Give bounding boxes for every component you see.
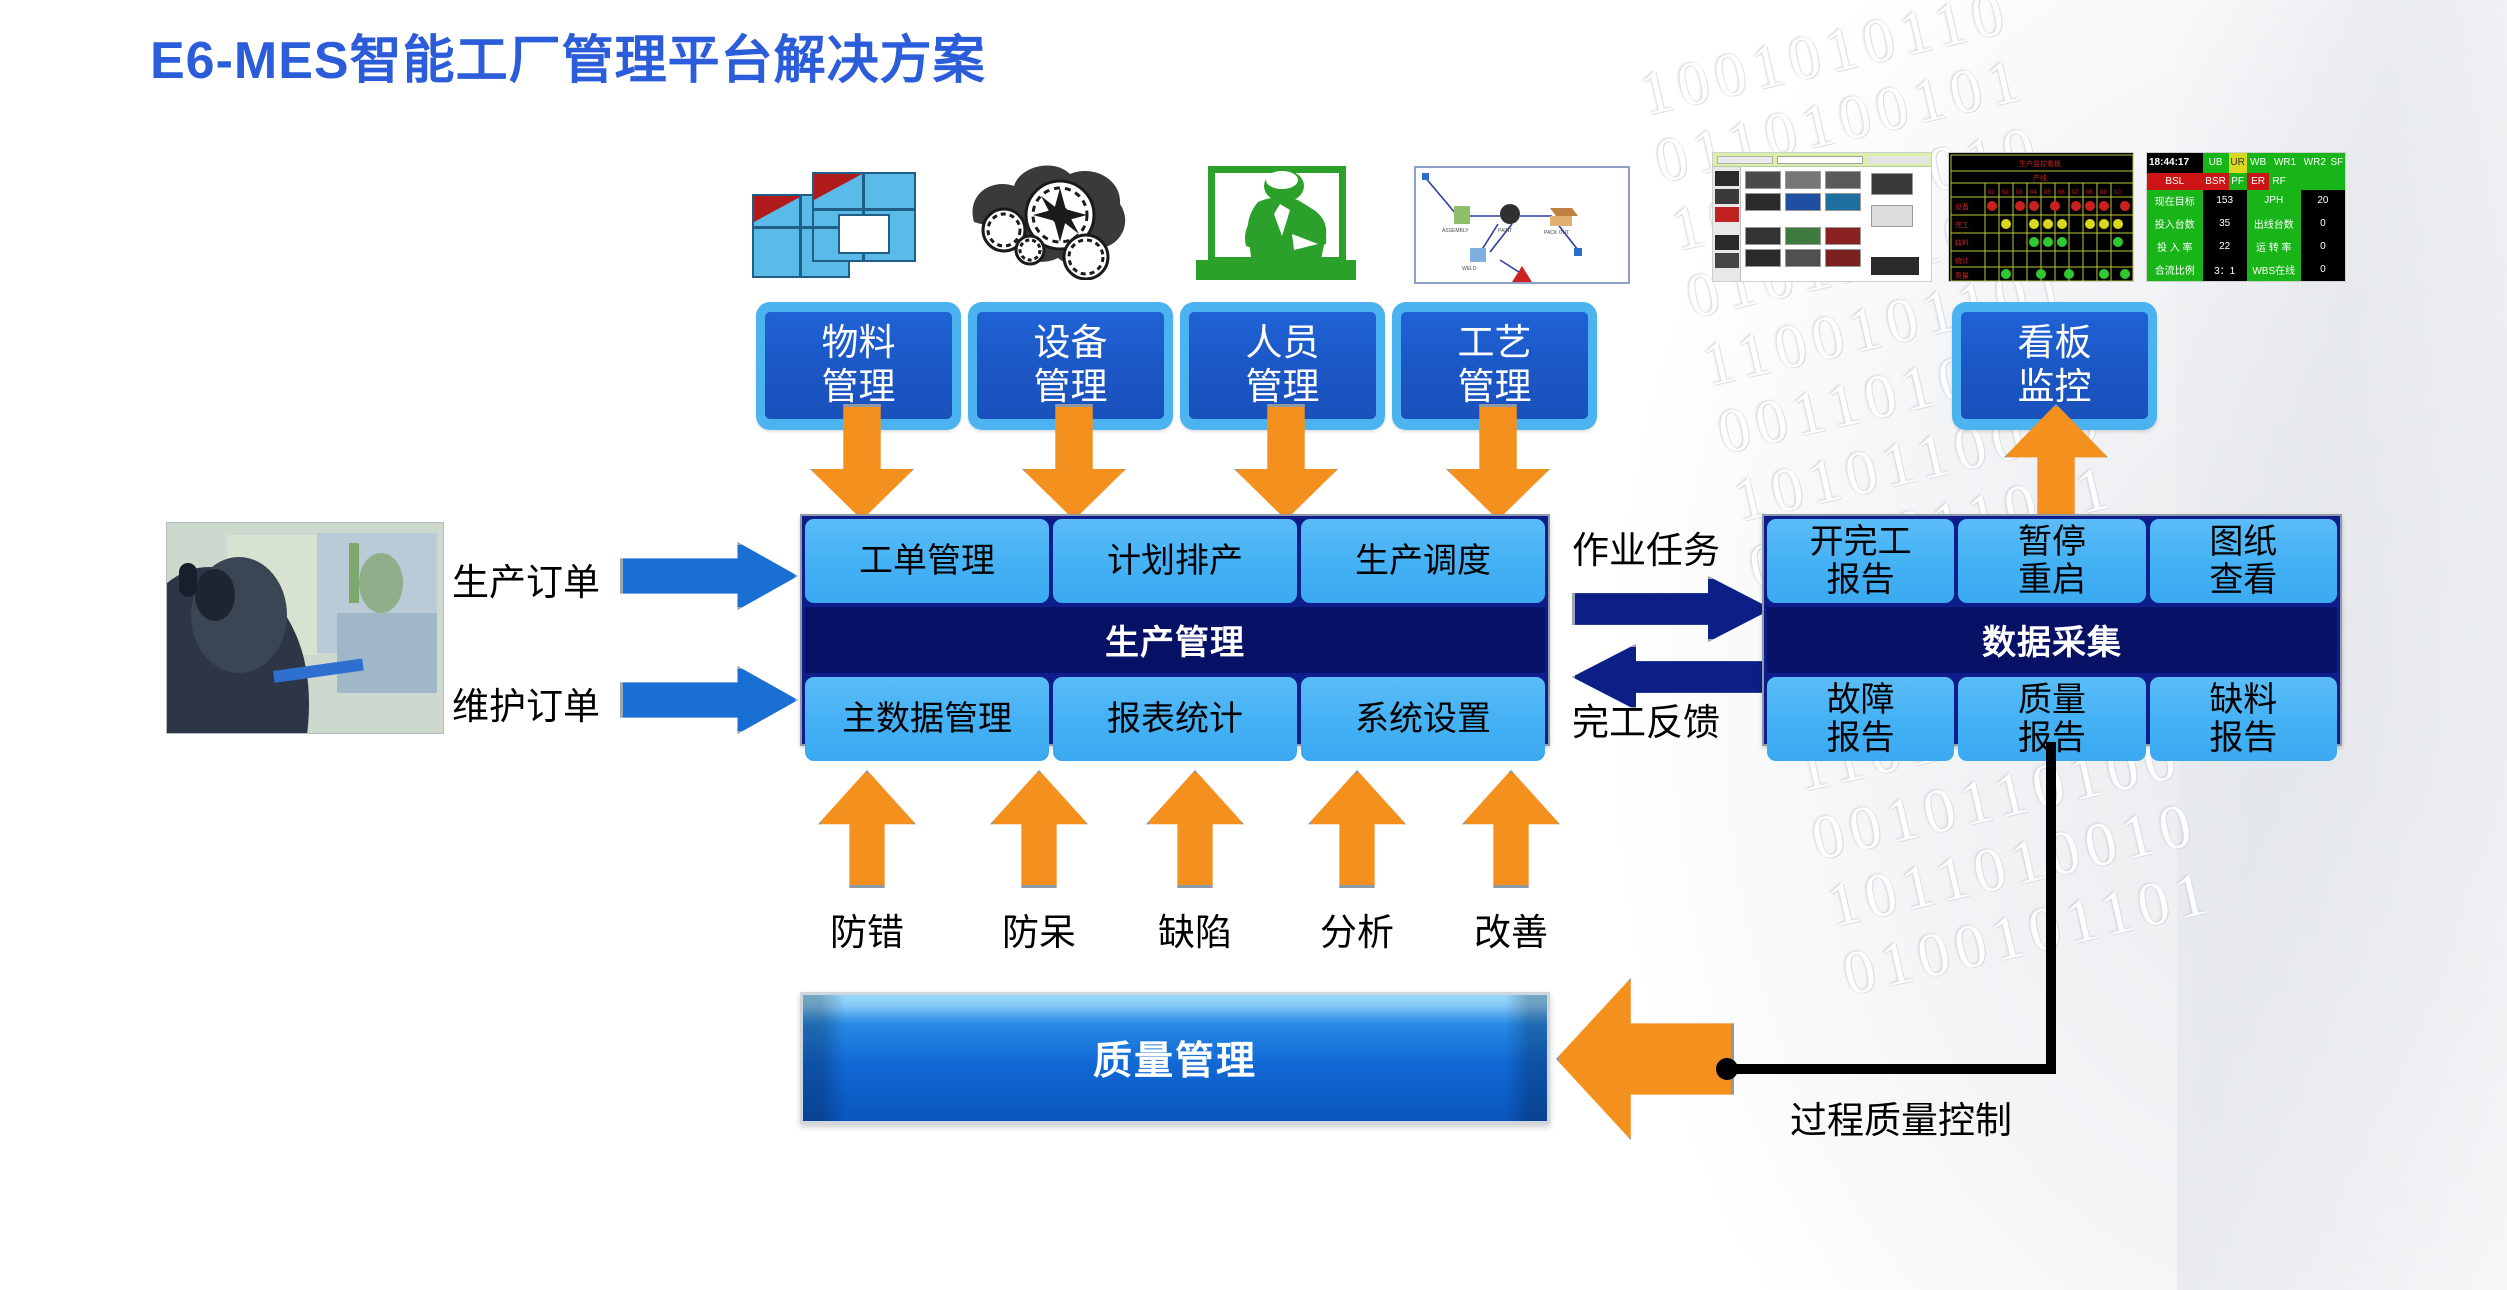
cell-line1: 质量 [2018,681,2086,719]
cell-shortage-report[interactable]: 缺料 报告 [2150,677,2337,761]
kanban-row-label2-2: 运 转 率 [2247,235,2301,258]
label-defect: 缺陷 [1146,902,1244,956]
svg-text:10: 10 [2114,190,2121,196]
kanban-row-label2-3: WBS在线 [2247,258,2301,281]
arrow-up-improvement [1462,770,1560,888]
svg-text:PACK OUT: PACK OUT [1544,230,1569,236]
svg-text:02: 02 [2002,190,2009,196]
module-card-process-text: 工艺 管理 [1401,312,1588,419]
arrow-up-foolproofing [990,770,1088,888]
cell-line2: 查看 [2209,561,2277,599]
kanban-row-label-2: 投 入 率 [2147,235,2203,258]
svg-text:产线: 产线 [2033,173,2047,182]
arrow-process-quality-control [1556,978,1734,1140]
process-flow-icon: ASSEMBLY PAINT PACK OUT WELD COMP [1414,166,1630,284]
page-title: E6-MES智能工厂管理平台解决方案 [150,18,986,93]
connector-dot [1716,1058,1738,1080]
kanban-row-value2-3: 0 [2301,258,2345,281]
arrow-up-mistake-proofing [818,770,916,888]
connector-vertical [2046,742,2056,1074]
quality-management-label: 质量管理 [1093,1030,1257,1086]
cell-pause-restart[interactable]: 暂停 重启 [1958,519,2145,603]
cell-production-dispatch[interactable]: 生产调度 [1301,519,1545,603]
label-production-order: 生产订单 [452,552,600,606]
svg-text:质量: 质量 [1955,271,1969,280]
module-card-kanban-text: 看板 监控 [1961,312,2148,419]
kanban-row-value2-0: 20 [2301,190,2345,213]
module-label-line2: 监控 [1967,365,2142,409]
module-label-line1: 人员 [1195,321,1370,365]
module-label-line2: 管理 [983,365,1158,409]
kanban-status-wr2: WR2 [2301,153,2329,173]
kanban-clock: 18:44:17 [2147,153,2203,173]
operator-photo-svg [167,523,444,734]
cell-master-data[interactable]: 主数据管理 [805,677,1049,761]
cell-line1: 故障 [1827,681,1895,719]
kanban-status-ur: UR [2229,153,2247,173]
svg-text:缺料: 缺料 [1955,238,1969,247]
svg-text:ASSEMBLY: ASSEMBLY [1442,228,1469,234]
label-improvement: 改善 [1462,902,1560,956]
cell-drawing-view[interactable]: 图纸 查看 [2150,519,2337,603]
label-process-quality-control: 过程质量控制 [1790,1090,2012,1144]
cell-plan-schedule[interactable]: 计划排产 [1053,519,1297,603]
kanban-row-label-1: 投入台数 [2147,212,2203,235]
module-label-line1: 工艺 [1407,321,1582,365]
svg-text:03: 03 [2016,190,2023,196]
data-collection-panel[interactable]: 开完工 报告 暂停 重启 图纸 查看 数据采集 故障 [1762,514,2342,746]
cell-report-statistics[interactable]: 报表统计 [1053,677,1297,761]
worker-svg [1196,160,1356,270]
kanban-row-label2-0: JPH [2247,190,2301,213]
quality-management-bar[interactable]: 质量管理 [800,992,1550,1124]
production-management-panel[interactable]: 工单管理 计划排产 生产调度 生产管理 主数据管理 报表统计 系统设置 [800,514,1550,746]
module-label-line2: 管理 [1195,365,1370,409]
module-label-line2: 管理 [1407,365,1582,409]
kanban-row-value-2: 22 [2203,235,2247,258]
kanban-row-label-0: 现在目标 [2147,190,2203,213]
cell-line1: 开完工 [1810,523,1912,561]
cell-line2: 报告 [1827,719,1895,757]
label-analysis: 分析 [1308,902,1406,956]
svg-text:08: 08 [2086,190,2093,196]
label-completion-feedback: 完工反馈 [1572,692,1720,746]
module-card-material-text: 物料 管理 [765,312,952,419]
kanban-row-value2-1: 0 [2301,212,2345,235]
cell-system-settings[interactable]: 系统设置 [1301,677,1545,761]
module-label-line2: 管理 [771,365,946,409]
svg-text:09: 09 [2100,190,2107,196]
operator-photo [166,522,444,734]
svg-text:设备: 设备 [1955,202,1969,211]
andon-matrix-icon: 设备完工 缺料统计质量 生产监控看板产线 010203 040506 07080… [1948,152,2134,282]
svg-text:07: 07 [2072,190,2079,196]
arrow-maintenance-order [620,666,798,734]
arrow-work-task [1572,576,1772,642]
connector-horizontal [1724,1064,2054,1074]
gears-svg [960,160,1142,280]
data-panel-band: 数据采集 [1767,607,2337,673]
svg-text:06: 06 [2058,190,2065,196]
svg-text:生产监控看板: 生产监控看板 [2019,159,2061,168]
cell-line2: 报告 [1810,561,1912,599]
svg-text:WELD: WELD [1462,266,1477,272]
cell-line1: 图纸 [2209,523,2277,561]
cell-line1: 暂停 [2018,523,2086,561]
kanban-screen-icon: 18:44:17 UB UR WB WR1 WR2 SF BSL BSR PF … [2146,152,2346,282]
packages-icon [752,168,922,280]
svg-text:01: 01 [1988,190,1995,196]
cell-line2: 重启 [2018,561,2086,599]
kanban-status-sf: SF [2329,153,2345,173]
cell-start-finish-report[interactable]: 开完工 报告 [1767,519,1954,603]
kanban-status-bsl: BSL [2147,173,2203,190]
worker-icon [1196,160,1356,282]
label-work-task: 作业任务 [1572,520,1720,574]
svg-text:统计: 统计 [1955,256,1969,265]
arrow-up-analysis [1308,770,1406,888]
process-flow-svg: ASSEMBLY PAINT PACK OUT WELD COMP [1416,168,1630,284]
module-card-equipment-text: 设备 管理 [977,312,1164,419]
module-label-line1: 设备 [983,321,1158,365]
kanban-row-value-3: 3：1 [2203,258,2247,281]
gears-icon [960,160,1142,280]
arrow-up-defect [1146,770,1244,888]
cell-work-order[interactable]: 工单管理 [805,519,1049,603]
production-top-row: 工单管理 计划排产 生产调度 [805,519,1545,603]
kanban-status-ub: UB [2203,153,2229,173]
production-bottom-row: 主数据管理 报表统计 系统设置 [805,677,1545,761]
kanban-status-wb: WB [2247,153,2270,173]
cell-line1: 缺料 [2209,681,2277,719]
label-maintenance-order: 维护订单 [452,676,600,730]
kanban-status-pf: PF [2229,173,2247,190]
kanban-row-label-3: 合流比例 [2147,258,2203,281]
kanban-row-label2-1: 出线台数 [2247,212,2301,235]
label-mistake-proofing: 防错 [818,902,916,956]
kanban-row-value-1: 35 [2203,212,2247,235]
cell-fault-report[interactable]: 故障 报告 [1767,677,1954,761]
kanban-row-value-0: 153 [2203,190,2247,213]
arrow-production-order [620,542,798,610]
kanban-status-rf: RF [2269,173,2345,190]
kanban-status-er: ER [2247,173,2270,190]
cell-line2: 报告 [2209,719,2277,757]
data-top-row: 开完工 报告 暂停 重启 图纸 查看 [1767,519,2337,603]
dashboard-gallery-icon [1712,152,1932,282]
svg-text:05: 05 [2044,190,2051,196]
module-label-line1: 物料 [771,321,946,365]
kanban-status-bsr: BSR [2203,173,2229,190]
svg-text:完工: 完工 [1955,220,1969,229]
svg-text:PAINT: PAINT [1498,228,1512,234]
label-foolproofing: 防呆 [990,902,1088,956]
kanban-row-value2-2: 0 [2301,235,2345,258]
kanban-status-wr1: WR1 [2269,153,2300,173]
production-panel-band: 生产管理 [805,607,1545,673]
module-label-line1: 看板 [1967,321,2142,365]
andon-matrix-svg: 设备完工 缺料统计质量 生产监控看板产线 010203 040506 07080… [1949,153,2134,282]
svg-text:04: 04 [2030,190,2037,196]
module-card-personnel-text: 人员 管理 [1189,312,1376,419]
